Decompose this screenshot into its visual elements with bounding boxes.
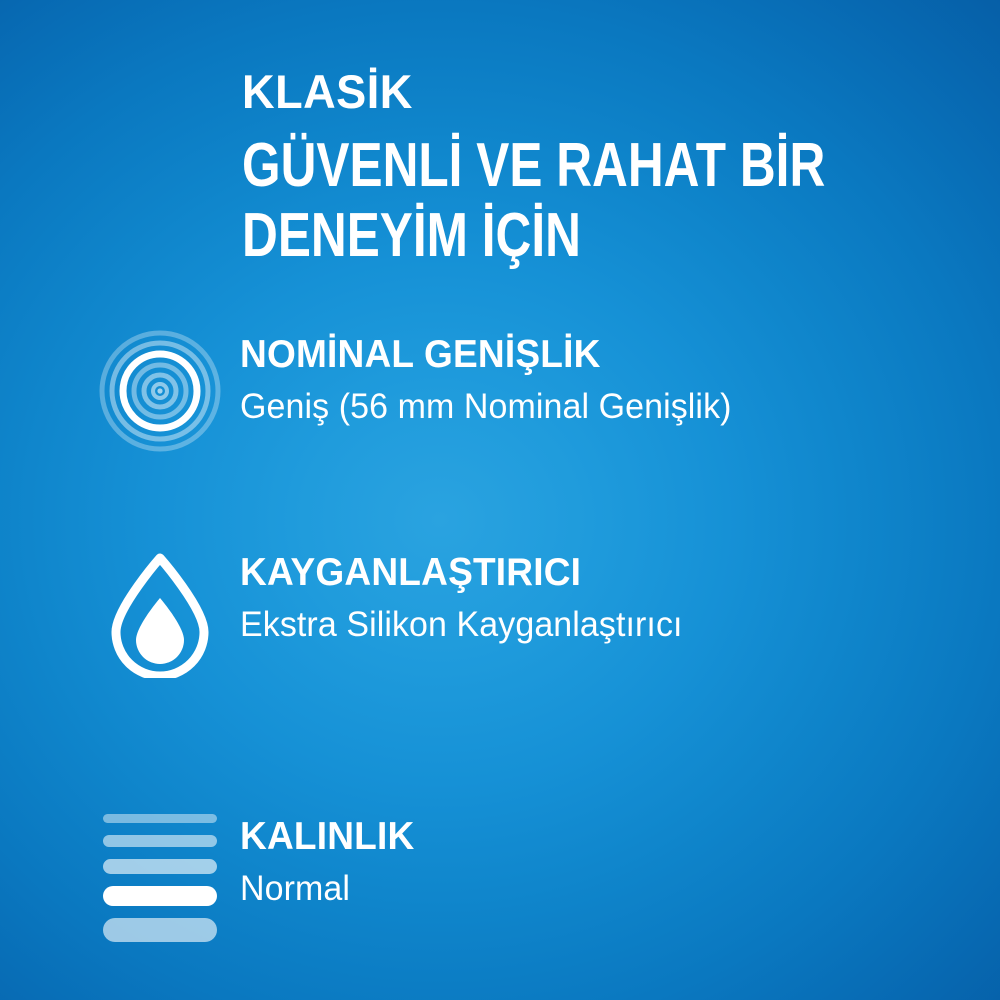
thickness-bar-1 <box>103 814 217 823</box>
feature-title-lubricant: KAYGANLAŞTIRICI <box>240 552 673 594</box>
feature-icon-slot <box>95 812 225 942</box>
feature-title-thickness: KALINLIK <box>240 816 414 858</box>
feature-row-lubricant: KAYGANLAŞTIRICI Ekstra Silikon Kayganlaş… <box>0 548 1000 678</box>
feature-subtitle-nominal-width: Geniş (56 mm Nominal Genişlik) <box>240 386 732 428</box>
water-droplet-icon <box>104 552 216 678</box>
thickness-bar-3 <box>103 859 217 874</box>
page-title-line-2: DENEYİM İÇİN <box>242 205 802 267</box>
thickness-bar-4-selected <box>103 886 217 906</box>
eyebrow-label: KLASİK <box>242 68 914 115</box>
thickness-bar-5 <box>103 918 217 942</box>
feature-icon-slot <box>95 548 225 678</box>
feature-text-block: NOMİNAL GENİŞLİK Geniş (56 mm Nominal Ge… <box>225 330 747 428</box>
page-title: GÜVENLİ VE RAHAT BİR DENEYİM İÇİN <box>242 135 942 267</box>
feature-subtitle-lubricant: Ekstra Silikon Kayganlaştırıcı <box>240 604 683 646</box>
feature-icon-slot <box>95 330 225 452</box>
thickness-bars-icon <box>103 814 217 942</box>
thickness-bar-2 <box>103 835 217 847</box>
feature-row-nominal-width: NOMİNAL GENİŞLİK Geniş (56 mm Nominal Ge… <box>0 330 1000 452</box>
feature-text-block: KALINLIK Normal <box>225 812 424 910</box>
feature-subtitle-thickness: Normal <box>240 868 418 910</box>
concentric-rings-icon <box>99 330 221 452</box>
product-feature-panel: KLASİK GÜVENLİ VE RAHAT BİR DENEYİM İÇİN <box>0 0 1000 1000</box>
page-title-line-1: GÜVENLİ VE RAHAT BİR <box>242 135 802 197</box>
feature-text-block: KAYGANLAŞTIRICI Ekstra Silikon Kayganlaş… <box>225 548 696 646</box>
feature-title-nominal-width: NOMİNAL GENİŞLİK <box>240 334 721 376</box>
headline-block: KLASİK GÜVENLİ VE RAHAT BİR DENEYİM İÇİN <box>242 68 942 275</box>
feature-row-thickness: KALINLIK Normal <box>0 812 1000 942</box>
